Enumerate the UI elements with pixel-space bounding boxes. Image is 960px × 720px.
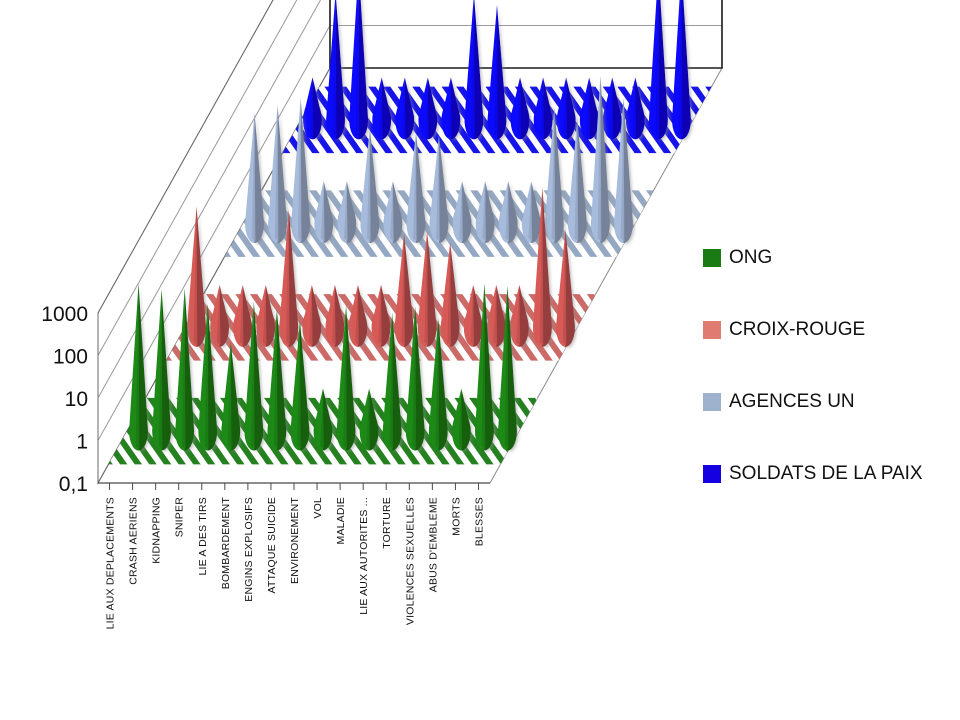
legend-swatch <box>703 465 721 483</box>
x-category-label: ENGINS EXPLOSIFS <box>243 497 255 602</box>
x-category-label: SNIPER <box>174 497 186 538</box>
y-tick-label: 10 <box>65 388 88 411</box>
legend-swatch <box>703 249 721 267</box>
x-category-label: BLESSES <box>473 497 485 546</box>
y-axis: 10001001010,1 <box>41 303 88 496</box>
chart-legend[interactable]: ONGCROIX-ROUGEAGENCES UNSOLDATS DE LA PA… <box>703 247 923 484</box>
legend-label: ONG <box>729 247 772 268</box>
x-category-label: KIDNAPPING <box>151 497 163 564</box>
x-category-label: MORTS <box>450 497 462 536</box>
cone-chart-3d: 10001001010,1 LIE AUX DEPLACEMENTSCRASH … <box>0 0 960 720</box>
x-axis: LIE AUX DEPLACEMENTSCRASH AERIENSKIDNAPP… <box>98 483 490 629</box>
x-category-label: VIOLENCES SEXUELLES <box>404 497 416 625</box>
x-category-label: ABUS D'EMBLEME <box>427 497 439 592</box>
legend-item[interactable]: CROIX-ROUGE <box>703 319 865 340</box>
data-cone <box>245 113 264 243</box>
chart-canvas: 10001001010,1 LIE AUX DEPLACEMENTSCRASH … <box>0 0 960 720</box>
x-category-label: ENVIRONEMENT <box>289 497 301 584</box>
x-category-label: MALADIE <box>335 497 347 545</box>
x-category-label: LIE AUX AUTORITES ... <box>358 497 370 615</box>
x-category-label: BOMBARDEMENT <box>220 497 232 590</box>
x-category-label: VOL <box>312 497 324 519</box>
legend-label: SOLDATS DE LA PAIX <box>729 463 923 484</box>
y-tick-label: 1 <box>76 431 88 454</box>
legend-label: CROIX-ROUGE <box>729 319 865 340</box>
y-tick-label: 100 <box>53 346 88 369</box>
data-cone <box>129 283 148 450</box>
legend-item[interactable]: AGENCES UN <box>703 391 855 412</box>
legend-swatch <box>703 393 721 411</box>
legend-item[interactable]: SOLDATS DE LA PAIX <box>703 463 923 484</box>
legend-label: AGENCES UN <box>729 391 855 412</box>
x-category-label: TORTURE <box>381 497 393 549</box>
x-category-label: LIE AUX DEPLACEMENTS <box>105 497 117 629</box>
x-category-label: ATTAQUE SUICIDE <box>266 497 278 594</box>
y-tick-label: 1000 <box>41 303 88 326</box>
x-category-label: LIE A DES TIRS <box>197 497 209 575</box>
y-tick-label: 0,1 <box>59 473 88 496</box>
x-category-label: CRASH AERIENS <box>128 497 140 585</box>
legend-swatch <box>703 321 721 339</box>
legend-item[interactable]: ONG <box>703 247 772 268</box>
